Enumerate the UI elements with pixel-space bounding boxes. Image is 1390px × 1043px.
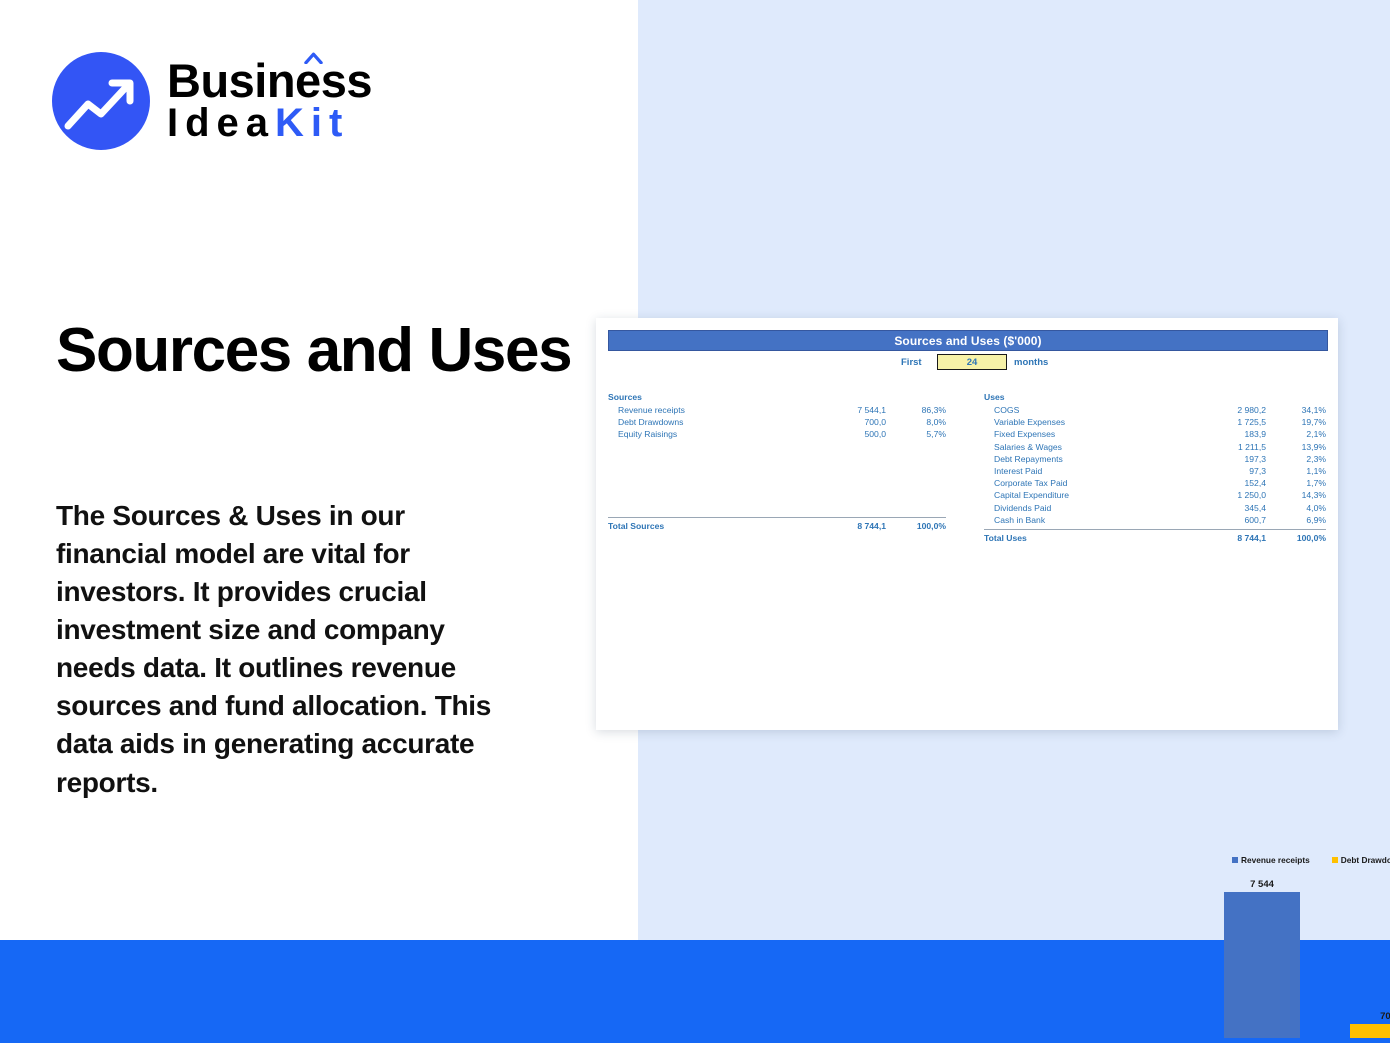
brand-line-2: IdeaKit — [167, 102, 372, 144]
brand-line-1: Business — [167, 58, 372, 103]
uses-total-amount: 8 744,1 — [1188, 531, 1266, 545]
uses-row-percent: 4,0% — [1266, 502, 1326, 514]
sources-row-amount: 7 544,1 — [808, 404, 886, 416]
uses-row-name: Salaries & Wages — [984, 441, 1188, 453]
uses-row-amount: 2 980,2 — [1188, 404, 1266, 416]
legend-item[interactable]: Revenue receipts — [1232, 855, 1310, 865]
sources-total-label: Total Sources — [608, 519, 808, 533]
sources-total-percent: 100,0% — [886, 519, 946, 533]
sources-table: Sources Revenue receipts7 544,186,3%Debt… — [608, 392, 946, 533]
legend-item-label: Debt Drawdowns — [1341, 855, 1390, 865]
uses-row-percent: 34,1% — [1266, 404, 1326, 416]
uses-total-percent: 100,0% — [1266, 531, 1326, 545]
sources-row-name: Debt Drawdowns — [608, 416, 808, 428]
uses-row-amount: 1 211,5 — [1188, 441, 1266, 453]
uses-row-name: Dividends Paid — [984, 502, 1188, 514]
uses-row-amount: 1 725,5 — [1188, 416, 1266, 428]
table-row: Revenue receipts7 544,186,3% — [608, 404, 946, 416]
table-row: Variable Expenses1 725,519,7% — [984, 416, 1326, 428]
brand-logo: Business IdeaKit — [52, 52, 372, 150]
uses-row-amount: 1 250,0 — [1188, 489, 1266, 501]
uses-row-name: Corporate Tax Paid — [984, 477, 1188, 489]
sources-row-name: Revenue receipts — [608, 404, 808, 416]
uses-row-name: COGS — [984, 404, 1188, 416]
sources-and-uses-card: Sources and Uses ($'000) First 24 months… — [596, 318, 1338, 730]
brand-line-1-text: Business — [167, 54, 372, 107]
uses-row-percent: 1,7% — [1266, 477, 1326, 489]
sources-row-amount: 700,0 — [808, 416, 886, 428]
uses-total-row: Total Uses 8 744,1 100,0% — [984, 530, 1326, 545]
uses-row-percent: 2,1% — [1266, 428, 1326, 440]
footer-bar — [0, 940, 1390, 1043]
sources-bar-chart: 7 544700500 — [1208, 874, 1390, 1038]
legend-swatch-icon — [1332, 857, 1338, 863]
uses-row-amount: 97,3 — [1188, 465, 1266, 477]
table-row: Capital Expenditure1 250,014,3% — [984, 489, 1326, 501]
uses-row-name: Interest Paid — [984, 465, 1188, 477]
table-row: Interest Paid97,31,1% — [984, 465, 1326, 477]
months-selector-row: First 24 months — [608, 354, 1326, 370]
sources-chart-legend: Revenue receiptsDebt DrawdownsEquity Rai… — [1232, 855, 1390, 865]
chart-bar — [1350, 1024, 1390, 1038]
uses-row-amount: 183,9 — [1188, 428, 1266, 440]
table-row: Salaries & Wages1 211,513,9% — [984, 441, 1326, 453]
table-row: Equity Raisings500,05,7% — [608, 428, 946, 440]
uses-row-amount: 152,4 — [1188, 477, 1266, 489]
table-row: Dividends Paid345,44,0% — [984, 502, 1326, 514]
uses-row-amount: 600,7 — [1188, 514, 1266, 526]
sources-row-name: Equity Raisings — [608, 428, 808, 440]
table-row: Debt Repayments197,32,3% — [984, 453, 1326, 465]
sources-total-row: Total Sources 8 744,1 100,0% — [608, 518, 946, 533]
sheet-title: Sources and Uses ($'000) — [608, 330, 1328, 351]
uses-row-percent: 13,9% — [1266, 441, 1326, 453]
uses-rows: COGS2 980,234,1%Variable Expenses1 725,5… — [984, 404, 1326, 526]
uses-row-percent: 2,3% — [1266, 453, 1326, 465]
uses-row-name: Fixed Expenses — [984, 428, 1188, 440]
sources-row-amount: 500,0 — [808, 428, 886, 440]
chart-bar-label: 700 — [1340, 1011, 1390, 1022]
uses-row-percent: 19,7% — [1266, 416, 1326, 428]
legend-item[interactable]: Debt Drawdowns — [1332, 855, 1390, 865]
legend-item-label: Revenue receipts — [1241, 855, 1310, 865]
sources-rows: Revenue receipts7 544,186,3%Debt Drawdow… — [608, 404, 946, 441]
table-row: Debt Drawdowns700,08,0% — [608, 416, 946, 428]
page-description: The Sources & Uses in our financial mode… — [56, 497, 506, 802]
months-prefix-label: First — [901, 357, 922, 368]
uses-table: Uses COGS2 980,234,1%Variable Expenses1 … — [984, 392, 1326, 545]
page-title: Sources and Uses — [56, 316, 576, 385]
uses-row-name: Capital Expenditure — [984, 489, 1188, 501]
sources-row-percent: 86,3% — [886, 404, 946, 416]
brand-wordmark: Business IdeaKit — [167, 58, 372, 143]
uses-row-name: Variable Expenses — [984, 416, 1188, 428]
chart-bar-label: 7 544 — [1214, 879, 1310, 890]
table-row: Cash in Bank600,76,9% — [984, 514, 1326, 526]
table-row: COGS2 980,234,1% — [984, 404, 1326, 416]
slide-root: Business IdeaKit Sources and Uses The So… — [0, 0, 1390, 1043]
chart-bar — [1224, 892, 1300, 1038]
circumflex-accent-icon — [304, 52, 323, 64]
legend-swatch-icon — [1232, 857, 1238, 863]
trend-arrow-icon — [52, 52, 150, 150]
sources-total-amount: 8 744,1 — [808, 519, 886, 533]
sources-spacer — [608, 441, 946, 514]
months-input[interactable]: 24 — [937, 354, 1007, 370]
sources-row-percent: 5,7% — [886, 428, 946, 440]
uses-row-percent: 1,1% — [1266, 465, 1326, 477]
uses-header: Uses — [984, 392, 1326, 402]
uses-row-name: Cash in Bank — [984, 514, 1188, 526]
uses-row-amount: 345,4 — [1188, 502, 1266, 514]
table-row: Fixed Expenses183,92,1% — [984, 428, 1326, 440]
uses-total-label: Total Uses — [984, 531, 1188, 545]
uses-row-percent: 14,3% — [1266, 489, 1326, 501]
sources-header: Sources — [608, 392, 946, 402]
uses-row-name: Debt Repayments — [984, 453, 1188, 465]
sources-row-percent: 8,0% — [886, 416, 946, 428]
months-suffix-label: months — [1014, 357, 1048, 368]
uses-row-amount: 197,3 — [1188, 453, 1266, 465]
table-row: Corporate Tax Paid152,41,7% — [984, 477, 1326, 489]
uses-row-percent: 6,9% — [1266, 514, 1326, 526]
